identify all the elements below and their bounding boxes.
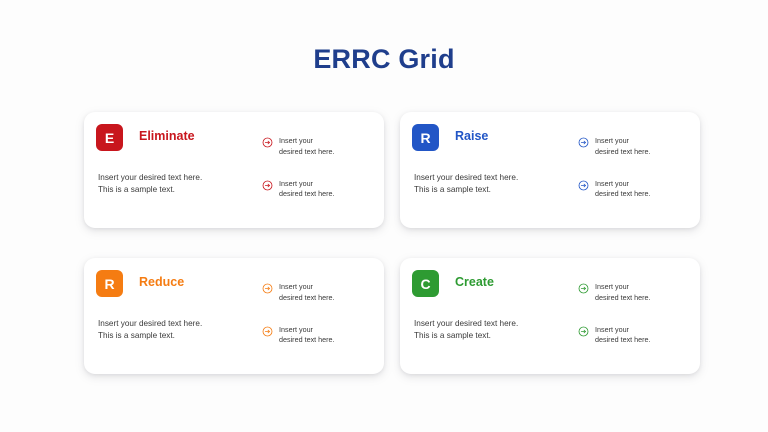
badge-letter: C [420, 277, 430, 291]
arrow-circle-right-icon [578, 180, 589, 191]
card-heading-create: Create [455, 276, 494, 289]
list-item[interactable]: Insert your desired text here. [262, 136, 378, 158]
card-content: E Eliminate Insert your desired text her… [84, 112, 384, 228]
bullet-line-1: Insert your [279, 325, 335, 336]
bullet-line-1: Insert your [279, 136, 335, 147]
card-create[interactable]: C Create Insert your desired text here. … [400, 258, 700, 374]
bullet-list-create: Insert your desired text here. [578, 282, 694, 367]
card-heading-raise: Raise [455, 130, 488, 143]
body-line-2: This is a sample text. [98, 330, 263, 342]
list-item[interactable]: Insert your desired text here. [262, 282, 378, 304]
badge-letter: E [105, 131, 114, 145]
badge-letter: R [104, 277, 114, 291]
card-content: R Raise Insert your desired text here. T… [400, 112, 700, 228]
bullet-line-1: Insert your [595, 325, 651, 336]
bullet-line-2: desired text here. [595, 189, 651, 200]
card-reduce[interactable]: R Reduce Insert your desired text here. … [84, 258, 384, 374]
list-item[interactable]: Insert your desired text here. [578, 136, 694, 158]
bullet-line-2: desired text here. [279, 147, 335, 158]
body-line-1: Insert your desired text here. [98, 318, 263, 330]
bullet-text: Insert your desired text here. [279, 282, 335, 304]
list-item[interactable]: Insert your desired text here. [262, 325, 378, 347]
card-body-create: Insert your desired text here. This is a… [414, 318, 579, 342]
slide-canvas: ERRC Grid E Eliminate Insert your desire… [0, 0, 768, 432]
bullet-line-2: desired text here. [279, 335, 335, 346]
bullet-text: Insert your desired text here. [279, 136, 335, 158]
bullet-line-1: Insert your [595, 179, 651, 190]
card-raise[interactable]: R Raise Insert your desired text here. T… [400, 112, 700, 228]
badge-reduce: R [96, 270, 123, 297]
list-item[interactable]: Insert your desired text here. [578, 325, 694, 347]
badge-eliminate: E [96, 124, 123, 151]
body-line-1: Insert your desired text here. [414, 318, 579, 330]
card-heading-reduce: Reduce [139, 276, 184, 289]
card-heading-eliminate: Eliminate [139, 130, 195, 143]
arrow-circle-right-icon [262, 137, 273, 148]
bullet-line-1: Insert your [279, 282, 335, 293]
bullet-list-eliminate: Insert your desired text here. [262, 136, 378, 221]
list-item[interactable]: Insert your desired text here. [578, 179, 694, 201]
arrow-circle-right-icon [578, 137, 589, 148]
body-line-1: Insert your desired text here. [414, 172, 579, 184]
list-item[interactable]: Insert your desired text here. [262, 179, 378, 201]
bullet-line-2: desired text here. [279, 293, 335, 304]
body-line-2: This is a sample text. [414, 330, 579, 342]
bullet-line-1: Insert your [595, 136, 651, 147]
card-content: C Create Insert your desired text here. … [400, 258, 700, 374]
bullet-text: Insert your desired text here. [279, 179, 335, 201]
page-title: ERRC Grid [0, 46, 768, 73]
errc-grid: E Eliminate Insert your desired text her… [84, 112, 684, 374]
arrow-circle-right-icon [578, 326, 589, 337]
badge-letter: R [420, 131, 430, 145]
bullet-text: Insert your desired text here. [595, 136, 651, 158]
card-body-eliminate: Insert your desired text here. This is a… [98, 172, 263, 196]
bullet-line-1: Insert your [279, 179, 335, 190]
badge-create: C [412, 270, 439, 297]
arrow-circle-right-icon [262, 326, 273, 337]
body-line-1: Insert your desired text here. [98, 172, 263, 184]
bullet-list-reduce: Insert your desired text here. [262, 282, 378, 367]
arrow-circle-right-icon [262, 180, 273, 191]
bullet-line-2: desired text here. [279, 189, 335, 200]
body-line-2: This is a sample text. [414, 184, 579, 196]
bullet-line-1: Insert your [595, 282, 651, 293]
card-content: R Reduce Insert your desired text here. … [84, 258, 384, 374]
card-body-raise: Insert your desired text here. This is a… [414, 172, 579, 196]
bullet-text: Insert your desired text here. [279, 325, 335, 347]
badge-raise: R [412, 124, 439, 151]
card-body-reduce: Insert your desired text here. This is a… [98, 318, 263, 342]
arrow-circle-right-icon [262, 283, 273, 294]
list-item[interactable]: Insert your desired text here. [578, 282, 694, 304]
bullet-text: Insert your desired text here. [595, 325, 651, 347]
bullet-line-2: desired text here. [595, 293, 651, 304]
bullet-text: Insert your desired text here. [595, 179, 651, 201]
bullet-text: Insert your desired text here. [595, 282, 651, 304]
arrow-circle-right-icon [578, 283, 589, 294]
bullet-list-raise: Insert your desired text here. [578, 136, 694, 221]
body-line-2: This is a sample text. [98, 184, 263, 196]
card-eliminate[interactable]: E Eliminate Insert your desired text her… [84, 112, 384, 228]
bullet-line-2: desired text here. [595, 147, 651, 158]
bullet-line-2: desired text here. [595, 335, 651, 346]
